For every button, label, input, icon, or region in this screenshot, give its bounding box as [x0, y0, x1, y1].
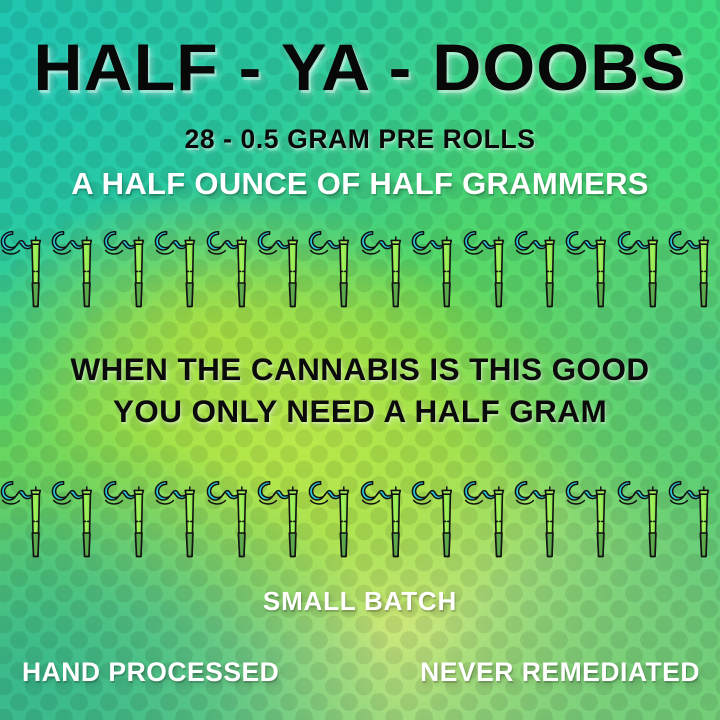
small-batch-label: SMALL BATCH [0, 588, 720, 614]
content-stack: HALF - YA - DOOBS 28 - 0.5 GRAM PRE ROLL… [0, 0, 720, 720]
promo-poster: HALF - YA - DOOBS 28 - 0.5 GRAM PRE ROLL… [0, 0, 720, 720]
poster-subtitle-tagline: A HALF OUNCE OF HALF GRAMMERS [0, 168, 720, 199]
joint-icon [51, 228, 102, 310]
joint-icon [103, 228, 154, 310]
footer-label-right: NEVER REMEDIATED [420, 659, 700, 686]
joint-icon [51, 478, 102, 560]
joint-icon [514, 228, 565, 310]
poster-body-line-2: YOU ONLY NEED A HALF GRAM [0, 396, 720, 428]
joint-icon [463, 478, 514, 560]
joint-icon [308, 478, 359, 560]
joint-row-top [0, 228, 720, 310]
joint-icon [668, 478, 719, 560]
joint-icon [154, 228, 205, 310]
joint-icon [257, 478, 308, 560]
joint-icon [411, 228, 462, 310]
joint-icon [103, 478, 154, 560]
joint-icon [154, 478, 205, 560]
joint-icon [257, 228, 308, 310]
joint-icon [617, 478, 668, 560]
footer-label-left: HAND PROCESSED [22, 659, 279, 686]
joint-icon [0, 228, 51, 310]
joint-icon [565, 228, 616, 310]
joint-icon [206, 478, 257, 560]
joint-row-bottom [0, 478, 720, 560]
joint-icon [360, 228, 411, 310]
joint-icon [308, 228, 359, 310]
joint-icon [206, 228, 257, 310]
joint-icon [668, 228, 719, 310]
joint-icon [463, 228, 514, 310]
joint-icon [411, 478, 462, 560]
joint-icon [565, 478, 616, 560]
poster-title: HALF - YA - DOOBS [0, 34, 720, 100]
poster-subtitle-count: 28 - 0.5 GRAM PRE ROLLS [0, 126, 720, 153]
joint-icon [514, 478, 565, 560]
joint-icon [617, 228, 668, 310]
joint-icon [0, 478, 51, 560]
poster-body-line-1: WHEN THE CANNABIS IS THIS GOOD [0, 354, 720, 386]
joint-icon [360, 478, 411, 560]
